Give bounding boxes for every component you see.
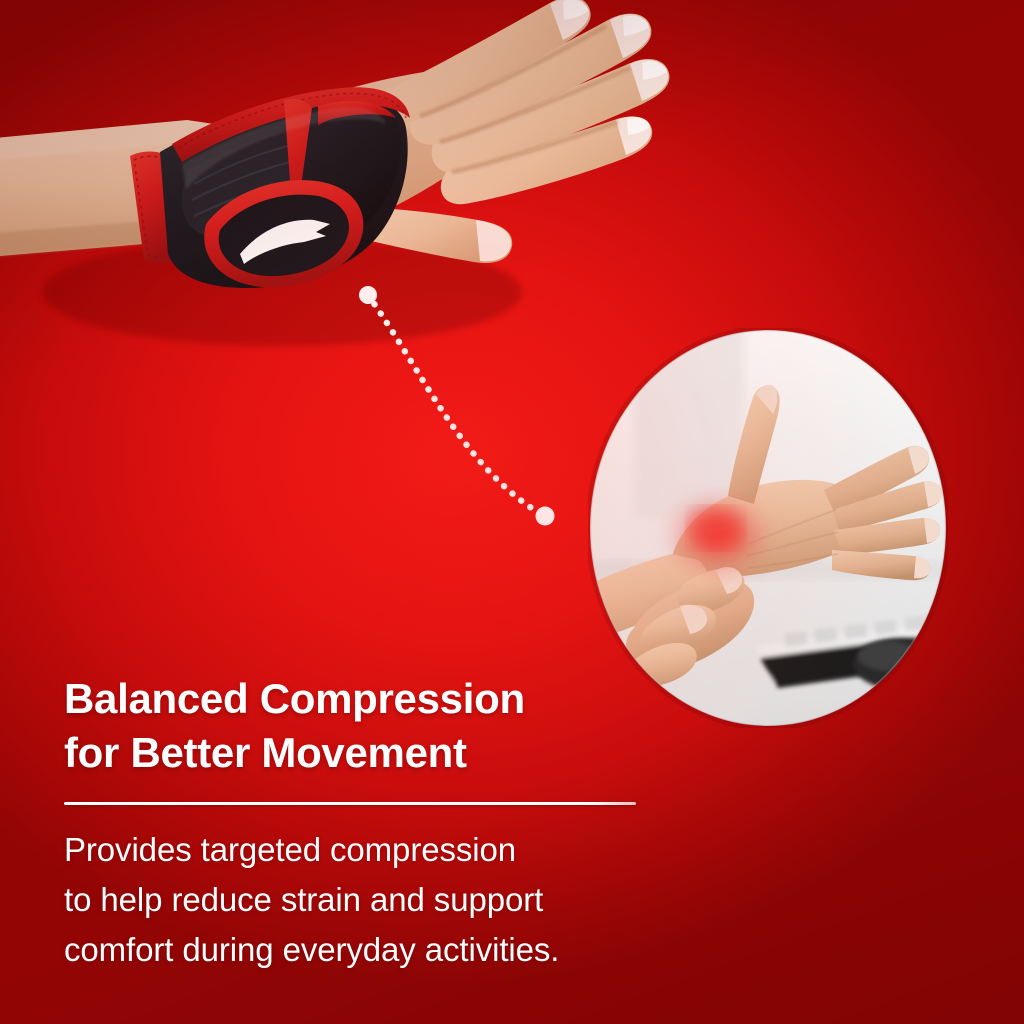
body-copy: Provides targeted compression to help re… — [64, 825, 764, 975]
inset-window-blur — [634, 328, 744, 518]
dotted-callout-line — [330, 275, 590, 550]
callout-end-dot — [536, 507, 555, 526]
divider-rule — [64, 802, 636, 805]
page-title: Balanced Compression for Better Movement — [64, 672, 764, 780]
wrist-pain-photo-circle — [588, 328, 948, 728]
marketing-text-block: Balanced Compression for Better Movement… — [64, 672, 764, 975]
product-marketing-graphic: Balanced Compression for Better Movement… — [0, 0, 1024, 1024]
callout-dots — [368, 295, 545, 516]
pain-glow-core — [690, 508, 742, 548]
